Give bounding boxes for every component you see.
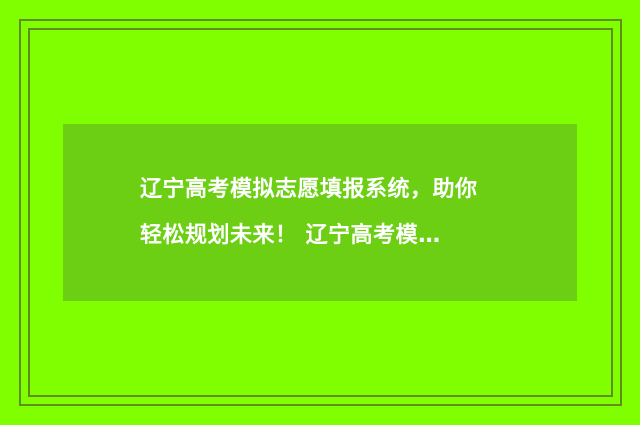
headline-panel: 辽宁高考模拟志愿填报系统，助你 轻松规划未来！ 辽宁高考模… [63, 124, 577, 301]
headline-text: 辽宁高考模拟志愿填报系统，助你 轻松规划未来！ 辽宁高考模… [140, 167, 540, 259]
poster-canvas: 辽宁高考模拟志愿填报系统，助你 轻松规划未来！ 辽宁高考模… [0, 0, 640, 425]
